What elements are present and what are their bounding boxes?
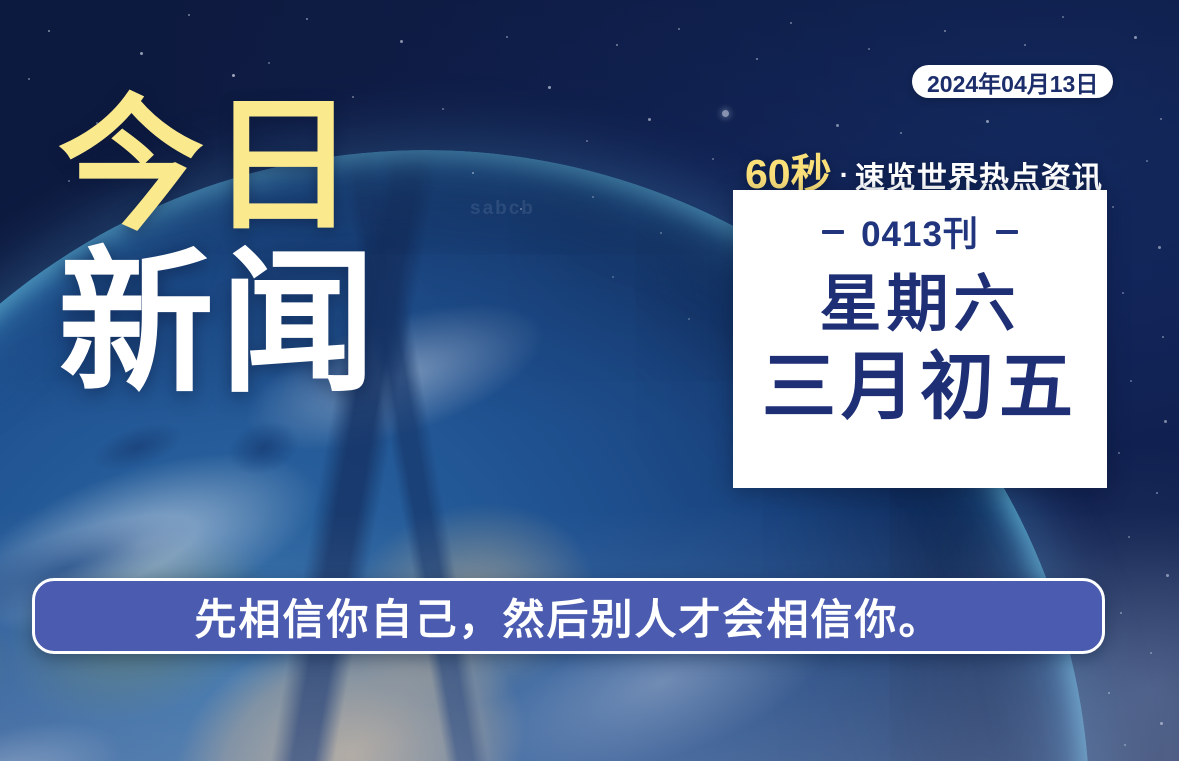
tagline-separator-icon: · — [840, 159, 849, 191]
dash-left-icon — [822, 230, 844, 234]
dash-right-icon — [996, 230, 1018, 234]
poster-canvas: sabcb 今日 新闻 2024年04月13日 60秒 · 速览世界热点资讯 0… — [0, 0, 1179, 761]
weekday-label: 星期六 — [819, 274, 1020, 336]
title-line-xinwen: 新闻 — [58, 250, 478, 400]
quote-text: 先相信你自己，然后别人才会相信你。 — [194, 586, 942, 647]
date-badge: 2024年04月13日 — [912, 65, 1113, 98]
quote-bar: 先相信你自己，然后别人才会相信你。 — [32, 578, 1105, 654]
poster-title: 今日 新闻 — [58, 96, 478, 400]
date-badge-label: 2024年04月13日 — [927, 65, 1098, 99]
watermark-text: sabcb — [470, 198, 535, 220]
issue-row: 0413刊 — [822, 206, 1018, 257]
issue-number: 0413刊 — [861, 206, 979, 257]
info-card: 0413刊 星期六 三月初五 — [733, 190, 1107, 488]
lunar-date-label: 三月初五 — [762, 350, 1078, 424]
title-line-jinri: 今日 — [58, 96, 478, 236]
